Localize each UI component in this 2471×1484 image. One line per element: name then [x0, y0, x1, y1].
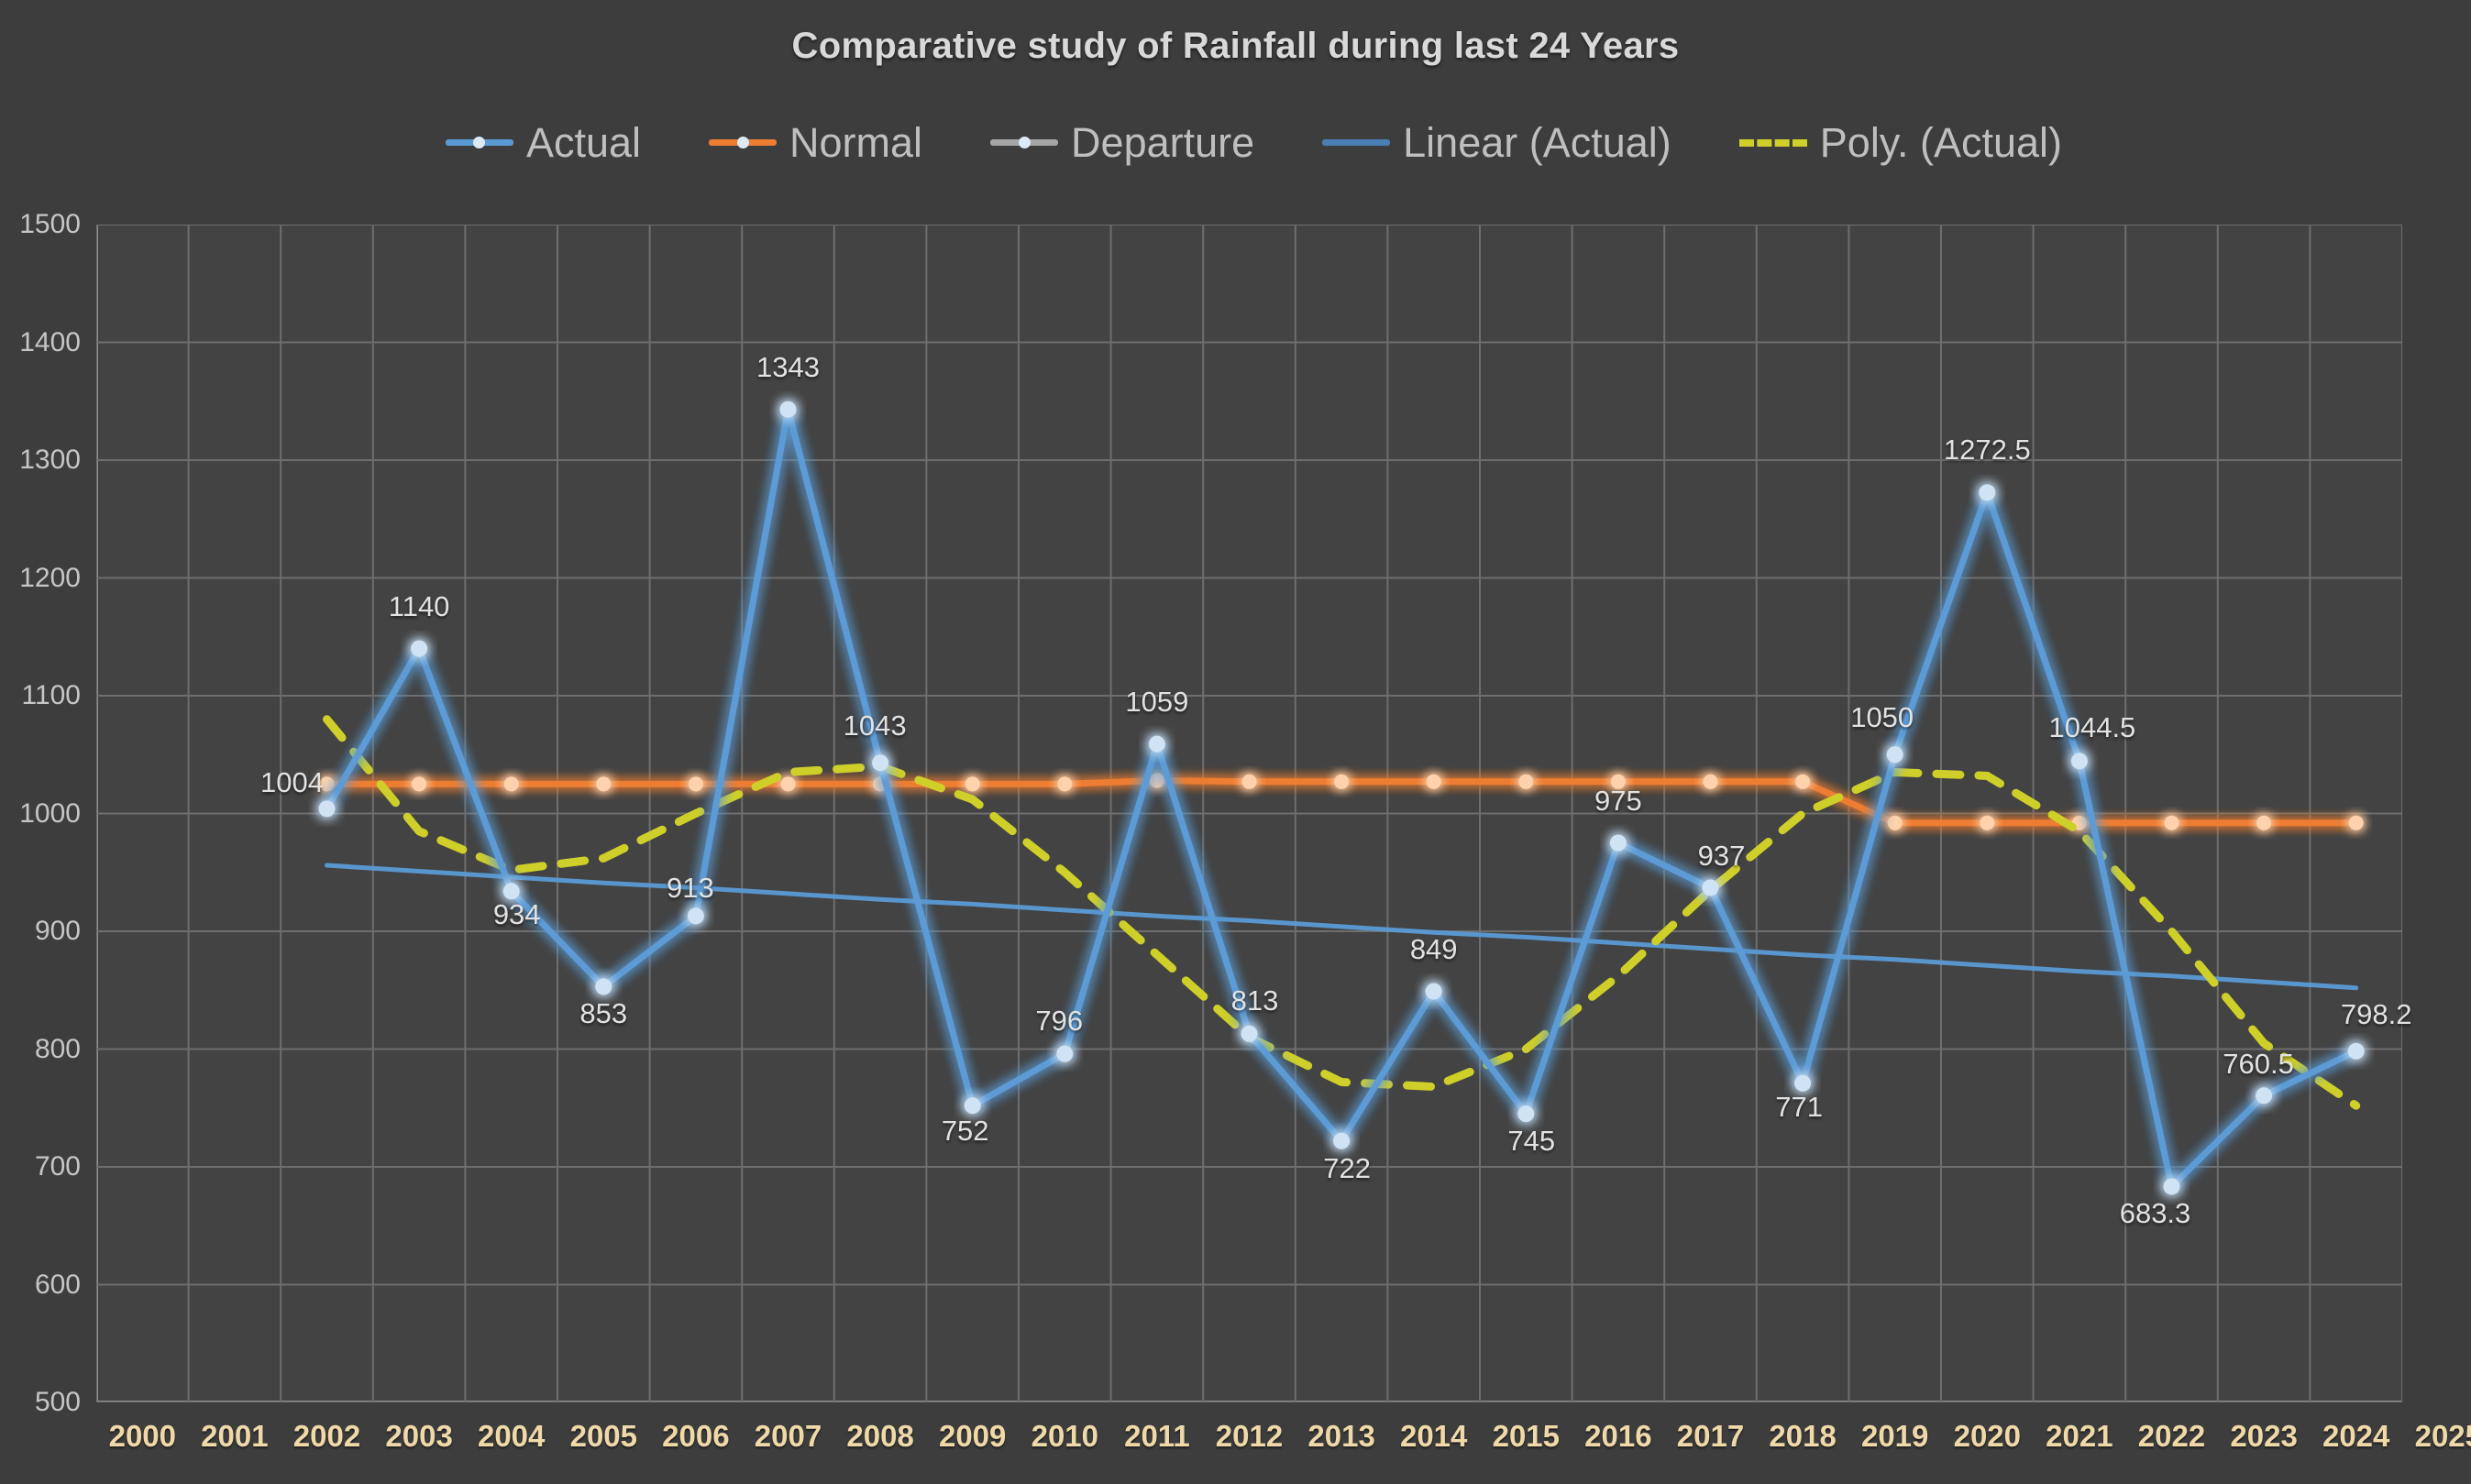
x-axis-tick-label: 2006	[662, 1419, 729, 1454]
y-axis-tick-label: 1200	[0, 563, 81, 594]
y-axis-tick-label: 1100	[0, 680, 81, 711]
chart-title: Comparative study of Rainfall during las…	[0, 26, 2471, 67]
y-axis-tick-label: 500	[0, 1387, 81, 1418]
x-axis-tick-label: 2008	[846, 1419, 913, 1454]
legend-item-label: Linear (Actual)	[1403, 122, 1671, 163]
y-axis-tick-label: 1300	[0, 445, 81, 476]
x-axis-tick-label: 2021	[2046, 1419, 2112, 1454]
legend-item-poly-actual[interactable]: Poly. (Actual)	[1739, 122, 2062, 163]
y-axis-tick-label: 900	[0, 916, 81, 947]
y-axis-tick-label: 1400	[0, 327, 81, 358]
y-axis-tick-label: 1500	[0, 209, 81, 240]
x-axis-tick-label: 2019	[1861, 1419, 1928, 1454]
legend-item-departure[interactable]: Departure	[990, 122, 1254, 163]
x-axis-tick-label: 2024	[2322, 1419, 2389, 1454]
legend-item-label: Departure	[1071, 122, 1254, 163]
x-axis-tick-label: 2009	[939, 1419, 1006, 1454]
y-axis-tick-label: 600	[0, 1270, 81, 1301]
x-axis-tick-label: 2020	[1954, 1419, 2021, 1454]
x-axis-tick-label: 2023	[2230, 1419, 2297, 1454]
x-axis-tick-label: 2015	[1493, 1419, 1560, 1454]
legend-item-actual[interactable]: Actual	[446, 122, 641, 163]
x-axis-tick-label: 2004	[478, 1419, 545, 1454]
x-axis: 2000200120022003200420052006200720082009…	[96, 1419, 2402, 1474]
x-axis-tick-label: 2003	[385, 1419, 452, 1454]
x-axis-tick-label: 2000	[109, 1419, 176, 1454]
x-axis-tick-label: 2001	[201, 1419, 268, 1454]
x-axis-tick-label: 2025	[2415, 1419, 2471, 1454]
x-axis-tick-label: 2014	[1400, 1419, 1467, 1454]
legend-item-normal[interactable]: Normal	[709, 122, 922, 163]
y-axis-tick-label: 1000	[0, 798, 81, 830]
x-axis-tick-label: 2005	[570, 1419, 637, 1454]
legend-swatch-icon	[446, 131, 513, 155]
legend-marker-icon	[1019, 137, 1031, 148]
chart-legend: ActualNormalDepartureLinear (Actual)Poly…	[0, 122, 2471, 163]
legend-swatch-icon	[1322, 131, 1390, 155]
x-axis-tick-label: 2022	[2138, 1419, 2205, 1454]
legend-swatch-icon	[709, 131, 777, 155]
legend-item-label: Actual	[526, 122, 641, 163]
legend-item-label: Normal	[789, 122, 922, 163]
x-axis-tick-label: 2017	[1677, 1419, 1744, 1454]
rainfall-line-chart: Comparative study of Rainfall during las…	[0, 0, 2471, 1484]
x-axis-tick-label: 2011	[1124, 1419, 1190, 1454]
legend-marker-icon	[737, 137, 749, 148]
legend-item-label: Poly. (Actual)	[1820, 122, 2062, 163]
x-axis-tick-label: 2002	[293, 1419, 360, 1454]
legend-marker-icon	[473, 137, 485, 148]
x-axis-tick-label: 2018	[1769, 1419, 1836, 1454]
y-axis: 150014001300120011001000900800700600500	[0, 225, 2471, 1402]
y-axis-tick-label: 700	[0, 1151, 81, 1182]
x-axis-tick-label: 2012	[1216, 1419, 1283, 1454]
y-axis-tick-label: 800	[0, 1034, 81, 1065]
x-axis-tick-label: 2010	[1031, 1419, 1098, 1454]
legend-item-linear-actual[interactable]: Linear (Actual)	[1322, 122, 1671, 163]
legend-swatch-icon	[1739, 131, 1807, 155]
x-axis-tick-label: 2016	[1584, 1419, 1651, 1454]
x-axis-tick-label: 2013	[1307, 1419, 1374, 1454]
legend-swatch-icon	[990, 131, 1058, 155]
x-axis-tick-label: 2007	[755, 1419, 822, 1454]
